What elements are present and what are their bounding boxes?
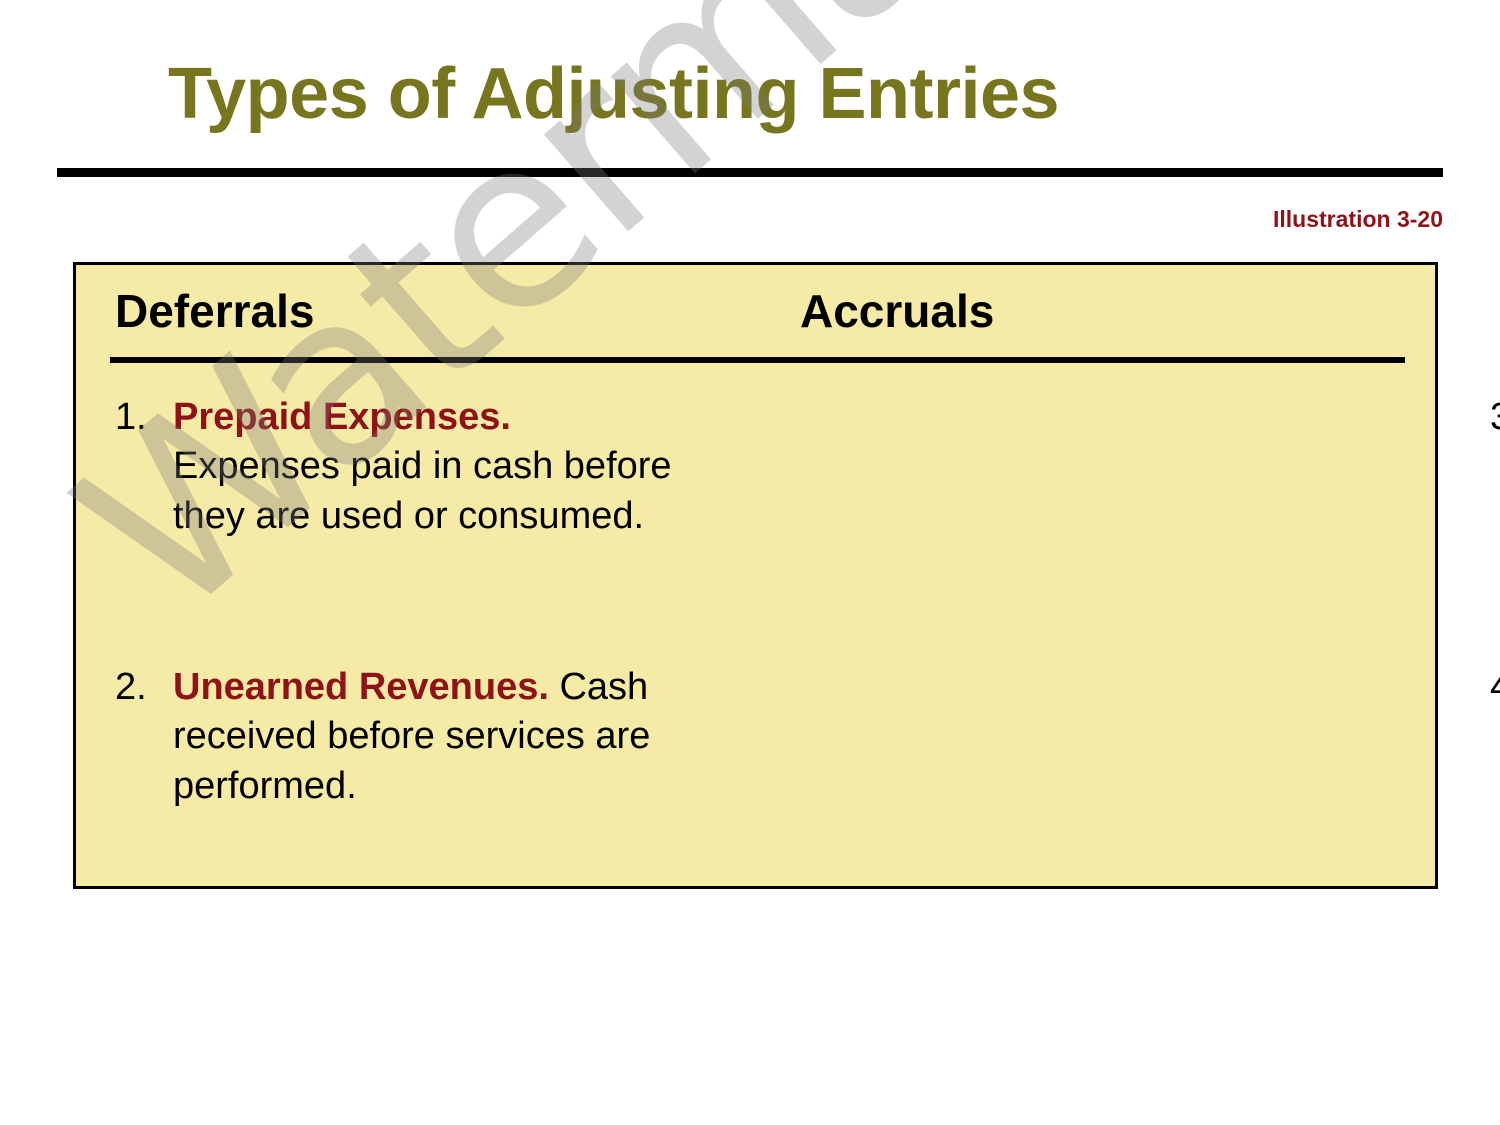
list-item-number: 4.: [1490, 663, 1500, 712]
list-item: 1. Prepaid Expenses. Expenses paid in ca…: [115, 393, 705, 541]
column-deferrals: Deferrals 1. Prepaid Expenses. Expenses …: [76, 265, 766, 886]
slide-canvas: Types of Adjusting Entries Illustration …: [0, 0, 1500, 1125]
list-item-body: Unearned Revenues. Cash received before …: [173, 663, 673, 811]
title-divider: [57, 168, 1443, 177]
list-item-term: Prepaid Expenses.: [173, 396, 511, 438]
column-heading-deferrals: Deferrals: [115, 288, 314, 334]
list-item: 3. Accrued Revenues. Revenues for servic…: [1490, 393, 1500, 541]
illustration-label: Illustration 3-20: [1273, 206, 1443, 233]
list-item-number: 3.: [1490, 393, 1500, 442]
adjusting-entries-panel: Deferrals 1. Prepaid Expenses. Expenses …: [73, 262, 1438, 889]
list-item-number: 2.: [115, 663, 173, 712]
column-heading-accruals: Accruals: [800, 288, 994, 334]
list-item: 4. Accrued Expenses. Expenses incurred b…: [1490, 663, 1500, 811]
page-title: Types of Adjusting Entries: [168, 58, 1059, 130]
list-item-term: Unearned Revenues.: [173, 666, 549, 708]
list-item-description: Expenses paid in cash before they are us…: [173, 445, 672, 536]
column-accruals: Accruals 3. Accrued Revenues. Revenues f…: [766, 265, 1438, 886]
list-item: 2. Unearned Revenues. Cash received befo…: [115, 663, 705, 811]
list-item-number: 1.: [115, 393, 173, 442]
list-item-body: Prepaid Expenses. Expenses paid in cash …: [173, 393, 673, 541]
